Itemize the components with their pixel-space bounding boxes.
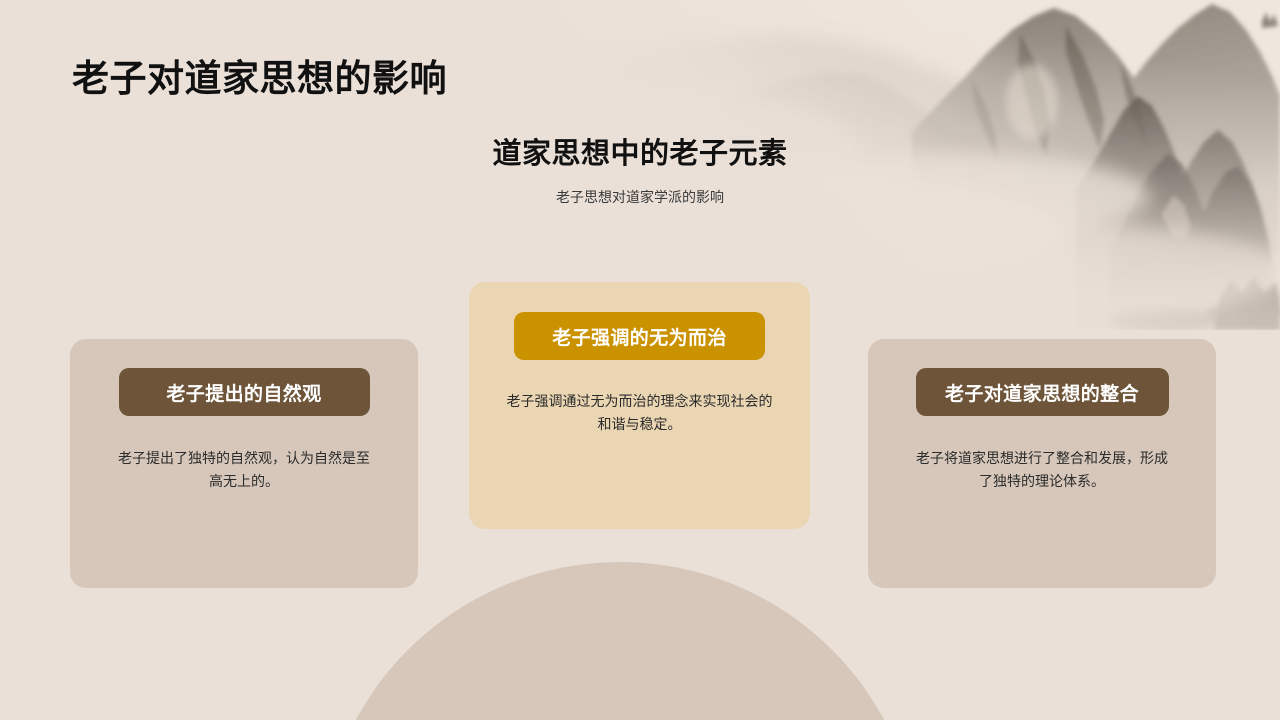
page-title: 老子对道家思想的影响: [72, 48, 447, 102]
section-subtitle: 老子思想对道家学派的影响: [0, 187, 1280, 207]
slide-canvas: 老子对道家思想的影响 道家思想中的老子元素 老子思想对道家学派的影响 老子提出的…: [0, 0, 1280, 720]
card-body-nature-view: 老子提出了独特的自然观，认为自然是至高无上的。: [70, 447, 418, 493]
content-card-nature-view[interactable]: 老子提出的自然观 老子提出了独特的自然观，认为自然是至高无上的。: [70, 339, 418, 588]
card-body-integration: 老子将道家思想进行了整合和发展，形成了独特的理论体系。: [868, 447, 1216, 493]
card-badge-wuwei: 老子强调的无为而治: [514, 312, 765, 360]
section-heading-block: 道家思想中的老子元素 老子思想对道家学派的影响: [0, 130, 1280, 207]
card-body-wuwei: 老子强调通过无为而治的理念来实现社会的和谐与稳定。: [469, 390, 810, 436]
content-card-wuwei[interactable]: 老子强调的无为而治 老子强调通过无为而治的理念来实现社会的和谐与稳定。: [469, 282, 810, 529]
card-badge-integration: 老子对道家思想的整合: [916, 368, 1169, 416]
section-title: 道家思想中的老子元素: [0, 130, 1280, 172]
content-card-integration[interactable]: 老子对道家思想的整合 老子将道家思想进行了整合和发展，形成了独特的理论体系。: [868, 339, 1216, 588]
card-badge-nature-view: 老子提出的自然观: [119, 368, 370, 416]
